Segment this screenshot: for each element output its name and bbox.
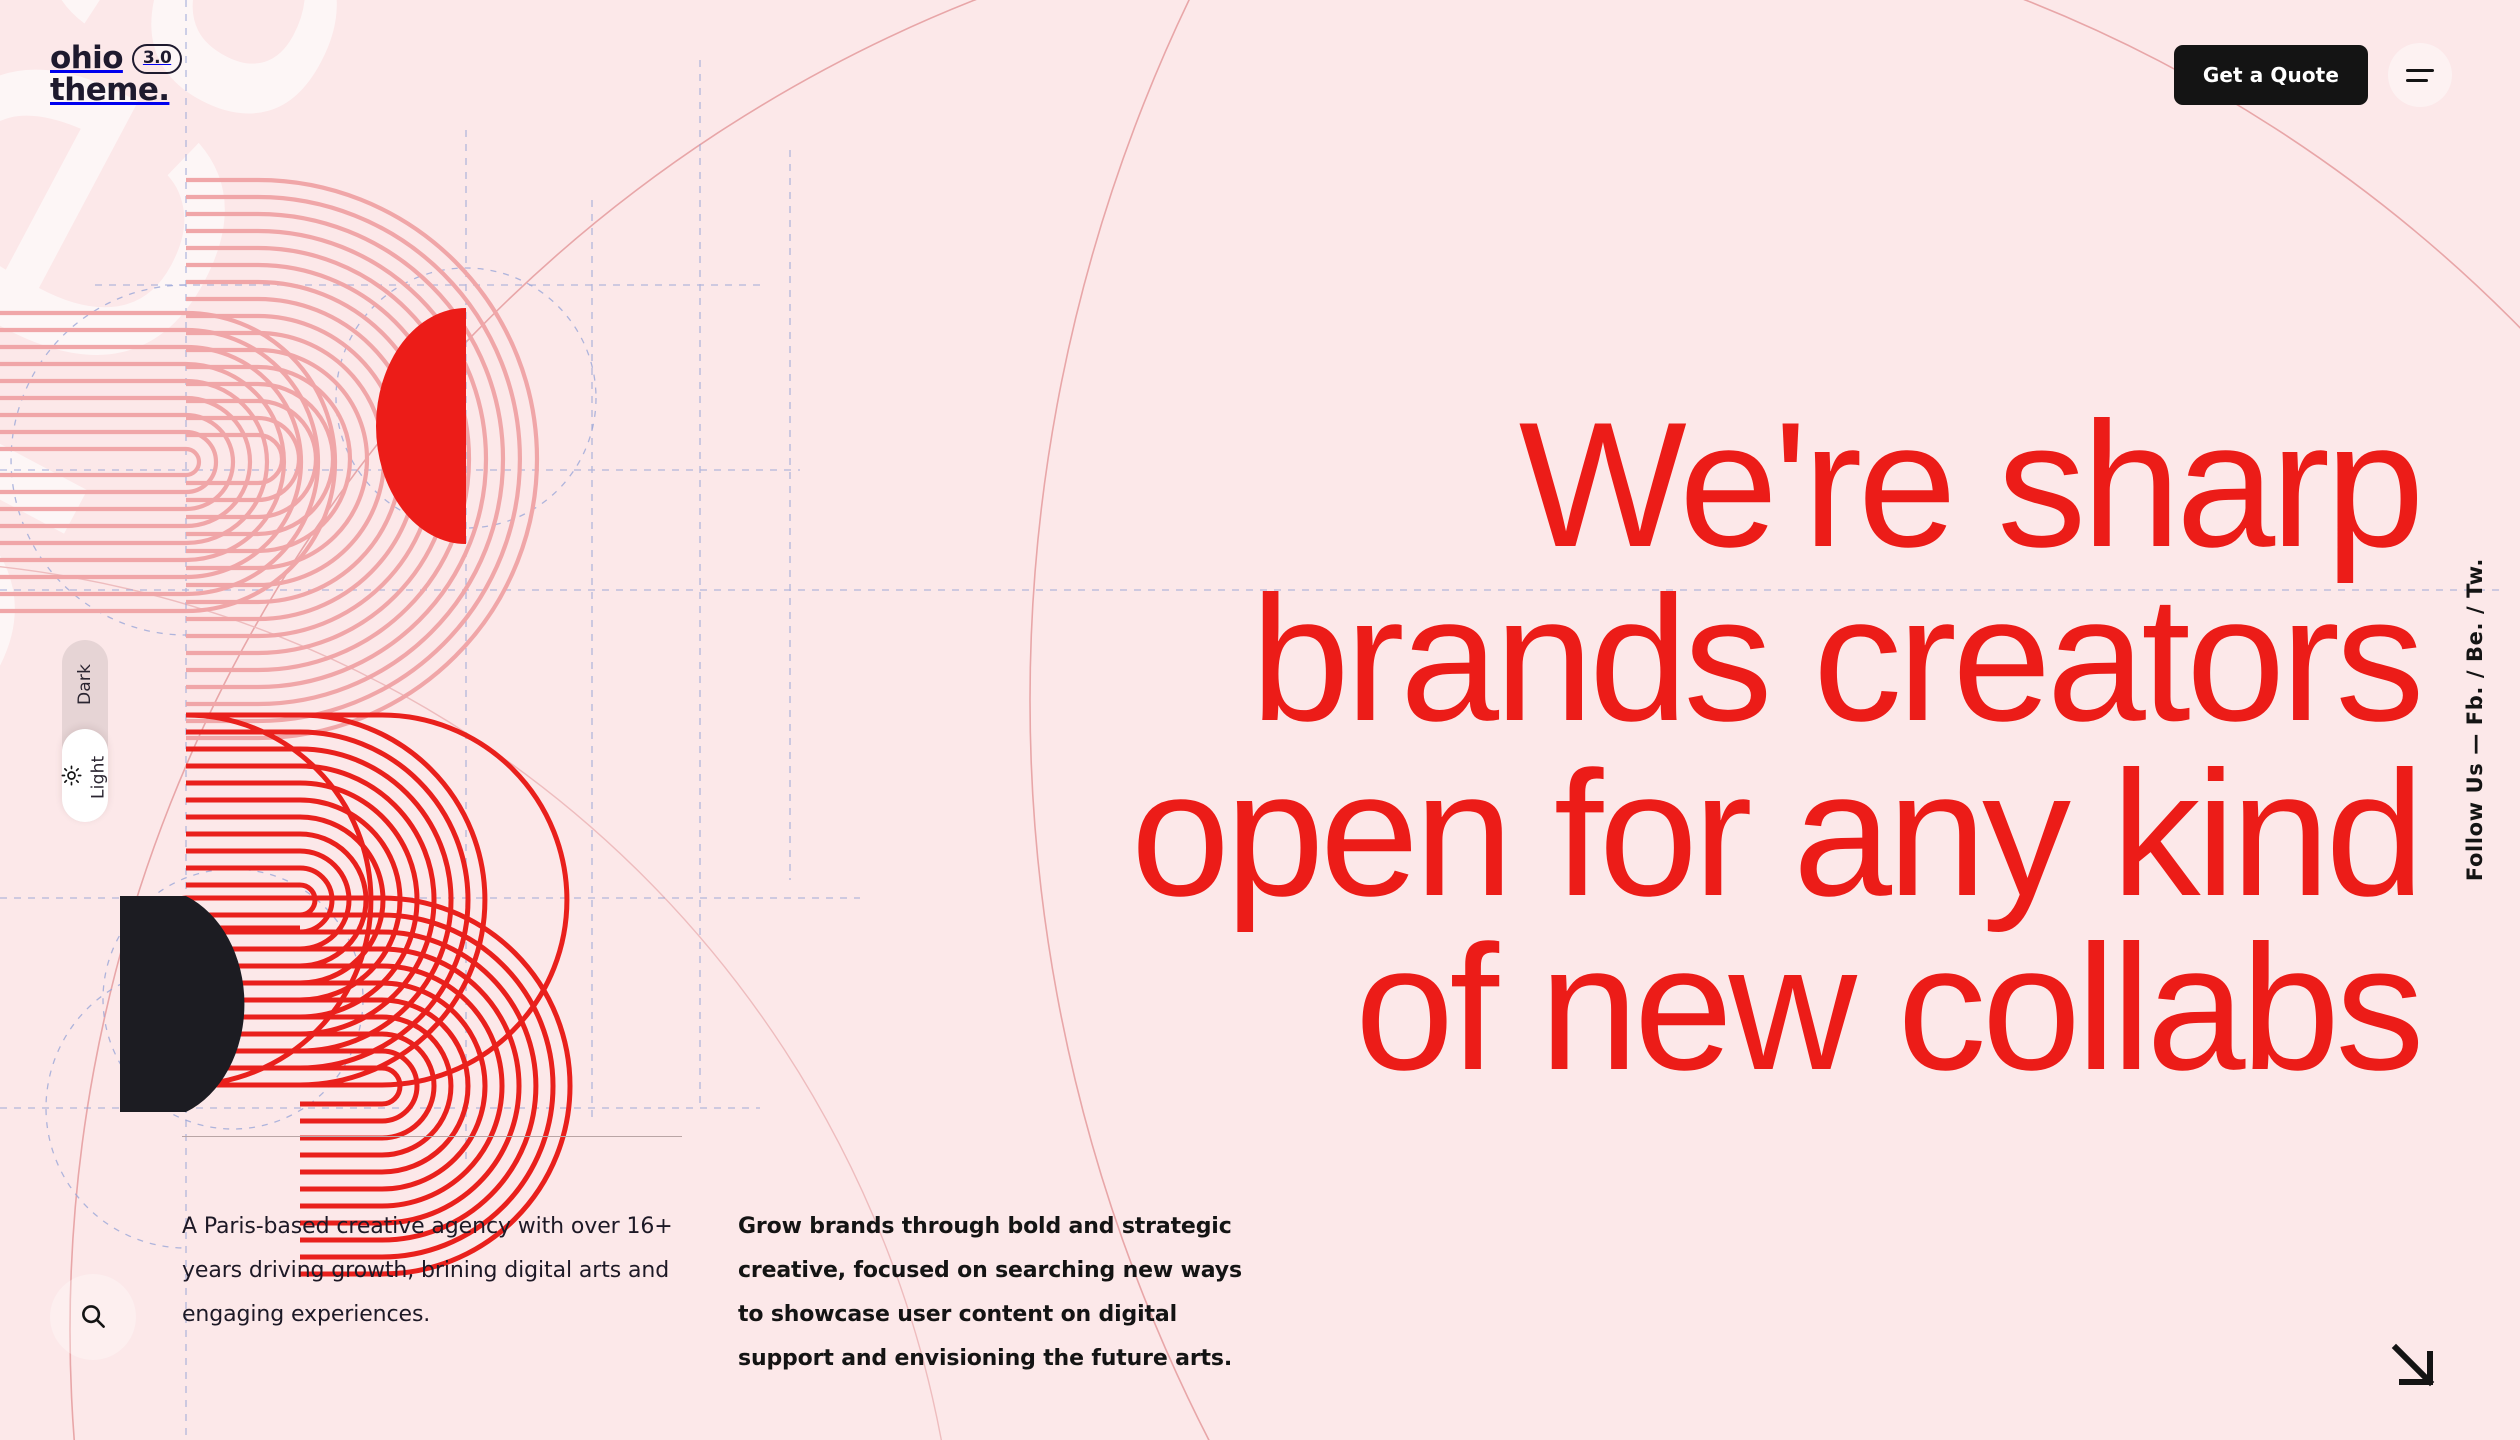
red-concentric-arc xyxy=(171,715,567,1085)
headline-line-1: We're sharp xyxy=(1000,398,2420,572)
intro-paragraph: Grow brands through bold and strategic c… xyxy=(738,1205,1258,1381)
search-button[interactable] xyxy=(50,1274,136,1360)
logo-line-2: theme. xyxy=(50,75,182,107)
follow-us-label[interactable]: Follow Us — Fb. / Be. / Tw. xyxy=(2463,558,2487,881)
theme-light-label: Light xyxy=(89,756,109,799)
logo-line-1: ohio xyxy=(50,43,123,75)
hero-headline: We're sharp brands creators open for any… xyxy=(1000,398,2420,1096)
hamburger-menu-icon[interactable] xyxy=(2388,43,2452,107)
search-icon xyxy=(78,1301,108,1334)
site-header: ohio 3.0 theme. Get a Quote xyxy=(0,0,2520,150)
logo-version-badge: 3.0 xyxy=(132,44,182,74)
theme-switcher[interactable]: Dark Light xyxy=(62,640,108,822)
red-half-disc xyxy=(376,308,466,544)
about-column: A Paris-based creative agency with over … xyxy=(182,1136,682,1337)
hamburger-bar-top xyxy=(2406,69,2434,72)
dark-half-disc xyxy=(186,896,244,1112)
about-paragraph: A Paris-based creative agency with over … xyxy=(182,1205,682,1337)
scroll-down-button[interactable] xyxy=(2388,1340,2442,1394)
logo[interactable]: ohio 3.0 theme. xyxy=(50,43,182,106)
theme-option-dark[interactable]: Dark xyxy=(62,640,108,729)
follow-us-rail[interactable]: Follow Us — Fb. / Be. / Tw. xyxy=(2452,540,2498,900)
hero-page: creatives xyxy=(0,0,2520,1440)
hamburger-bar-bottom xyxy=(2406,79,2428,82)
headline-line-2: brands creators xyxy=(1000,572,2420,746)
arrow-down-right-icon xyxy=(2388,1382,2442,1397)
theme-option-light[interactable]: Light xyxy=(62,729,108,822)
about-divider xyxy=(182,1136,682,1137)
hero-bottom: A Paris-based creative agency with over … xyxy=(0,1120,2520,1440)
intro-column: Grow brands through bold and strategic c… xyxy=(738,1205,1258,1381)
headline-line-4: of new collabs xyxy=(1000,921,2420,1095)
headline-line-3: open for any kind xyxy=(1000,747,2420,921)
get-a-quote-button[interactable]: Get a Quote xyxy=(2174,45,2368,105)
sun-icon xyxy=(62,765,83,790)
header-actions: Get a Quote xyxy=(2174,43,2452,107)
